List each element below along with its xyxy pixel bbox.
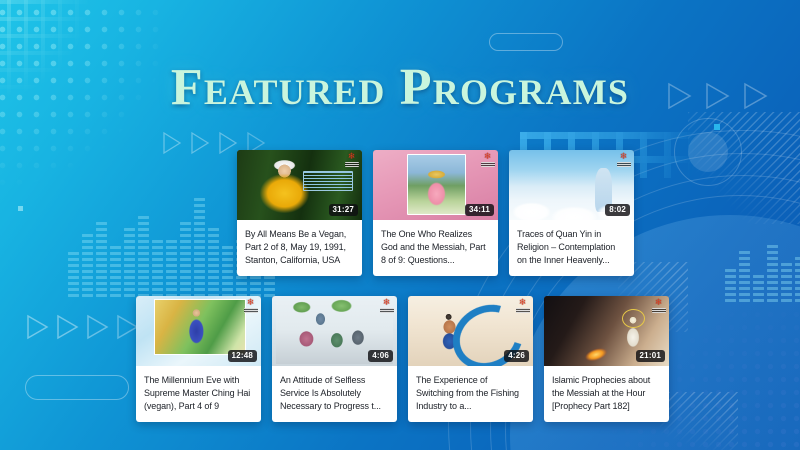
featured-row-1: ❄ 31:27 By All Means Be a Vegan, Part 2 … bbox=[237, 150, 634, 276]
program-title: The One Who Realizes God and the Messiah… bbox=[373, 220, 498, 276]
channel-logo-icon: ❄ bbox=[515, 298, 530, 315]
featured-row-2: ❄ 12:48 The Millennium Eve with Supreme … bbox=[136, 296, 669, 422]
logo-wordmark-icon bbox=[380, 308, 394, 313]
program-card[interactable]: ❄ 12:48 The Millennium Eve with Supreme … bbox=[136, 296, 261, 422]
logo-wordmark-icon bbox=[652, 308, 666, 313]
duration-badge: 21:01 bbox=[636, 350, 665, 362]
program-title: By All Means Be a Vegan, Part 2 of 8, Ma… bbox=[237, 220, 362, 276]
program-card[interactable]: ❄ 8:02 Traces of Quan Yin in Religion – … bbox=[509, 150, 634, 276]
equalizer-bars-right-icon bbox=[725, 232, 800, 302]
program-title: An Attitude of Selfless Service Is Absol… bbox=[272, 366, 397, 422]
page-title: Featured Programs bbox=[0, 62, 800, 114]
program-card[interactable]: ❄ 34:11 The One Who Realizes God and the… bbox=[373, 150, 498, 276]
program-card[interactable]: ❄ 31:27 By All Means Be a Vegan, Part 2 … bbox=[237, 150, 362, 276]
duration-badge: 12:48 bbox=[228, 350, 257, 362]
logo-mark-icon: ❄ bbox=[247, 298, 255, 307]
duration-badge: 31:27 bbox=[329, 204, 358, 216]
program-thumbnail[interactable]: ❄ 4:06 bbox=[272, 296, 397, 366]
program-thumbnail[interactable]: ❄ 8:02 bbox=[509, 150, 634, 220]
logo-wordmark-icon bbox=[617, 162, 631, 167]
thumbnail-flame bbox=[577, 339, 614, 366]
logo-mark-icon: ❄ bbox=[620, 152, 628, 161]
program-thumbnail[interactable]: ❄ 12:48 bbox=[136, 296, 261, 366]
featured-programs-slide: Featured Programs ❄ 31:27 By All Means B… bbox=[0, 0, 800, 450]
channel-logo-icon: ❄ bbox=[379, 298, 394, 315]
logo-mark-icon: ❄ bbox=[519, 298, 527, 307]
channel-logo-icon: ❄ bbox=[344, 152, 359, 169]
program-thumbnail[interactable]: ❄ 21:01 bbox=[544, 296, 669, 366]
logo-mark-icon: ❄ bbox=[484, 152, 492, 161]
duration-badge: 4:26 bbox=[504, 350, 529, 362]
duration-badge: 8:02 bbox=[605, 204, 630, 216]
logo-wordmark-icon bbox=[345, 162, 359, 167]
program-title: Islamic Prophecies about the Messiah at … bbox=[544, 366, 669, 422]
program-thumbnail[interactable]: ❄ 31:27 bbox=[237, 150, 362, 220]
channel-logo-icon: ❄ bbox=[651, 298, 666, 315]
program-thumbnail[interactable]: ❄ 34:11 bbox=[373, 150, 498, 220]
logo-wordmark-icon bbox=[244, 308, 258, 313]
thumbnail-figure bbox=[428, 311, 471, 353]
program-title: Traces of Quan Yin in Religion – Contemp… bbox=[509, 220, 634, 276]
duration-badge: 4:06 bbox=[368, 350, 393, 362]
pill-outline-bottom-left bbox=[25, 375, 129, 400]
program-thumbnail[interactable]: ❄ 4:26 bbox=[408, 296, 533, 366]
logo-wordmark-icon bbox=[481, 162, 495, 167]
logo-mark-icon: ❄ bbox=[655, 298, 663, 307]
program-title: The Experience of Switching from the Fis… bbox=[408, 366, 533, 422]
pill-outline-top bbox=[489, 33, 563, 51]
program-card[interactable]: ❄ 4:26 The Experience of Switching from … bbox=[408, 296, 533, 422]
thumbnail-halo bbox=[622, 309, 646, 329]
program-title: The Millennium Eve with Supreme Master C… bbox=[136, 366, 261, 422]
program-card[interactable]: ❄ 21:01 Islamic Prophecies about the Mes… bbox=[544, 296, 669, 422]
logo-mark-icon: ❄ bbox=[348, 152, 356, 161]
logo-wordmark-icon bbox=[516, 308, 530, 313]
accent-dot-icon bbox=[18, 206, 23, 211]
channel-logo-icon: ❄ bbox=[616, 152, 631, 169]
duration-badge: 34:11 bbox=[465, 204, 494, 216]
logo-mark-icon: ❄ bbox=[383, 298, 391, 307]
program-card[interactable]: ❄ 4:06 An Attitude of Selfless Service I… bbox=[272, 296, 397, 422]
channel-logo-icon: ❄ bbox=[243, 298, 258, 315]
channel-logo-icon: ❄ bbox=[480, 152, 495, 169]
